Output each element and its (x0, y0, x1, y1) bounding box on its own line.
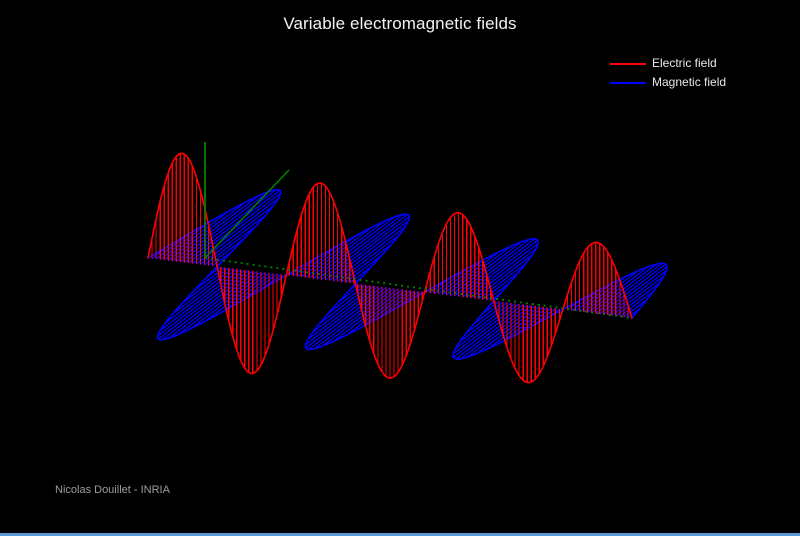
legend-label-electric-field: Electric field (652, 57, 717, 70)
figure-viewport: Variable electromagnetic fields Electric… (0, 0, 800, 541)
magnetic-field-vector (172, 196, 258, 261)
magnetic-field-vector (169, 272, 257, 339)
legend: Electric field Magnetic field (610, 55, 790, 93)
electromagnetic-wave-figure: Variable electromagnetic fields Electric… (0, 0, 800, 533)
magnetic-field-vector (165, 269, 237, 323)
electric-field-group (148, 153, 632, 382)
window-bottom-area (0, 536, 800, 541)
magnetic-field-vector (451, 242, 522, 296)
legend-item-magnetic-field[interactable]: Magnetic field (610, 74, 790, 91)
electric-field-comb-lines (148, 154, 632, 383)
author-credit: Nicolas Douillet - INRIA (55, 484, 170, 496)
magnetic-field-vector (241, 274, 277, 301)
magnetic-field-vector (346, 255, 382, 282)
magnetic-field-vector (467, 244, 538, 298)
magnetic-field-vector (455, 239, 530, 296)
magnetic-field-vector (158, 270, 245, 336)
magnetic-field-vector (576, 283, 613, 311)
magnetic-field-group (148, 190, 667, 359)
magnetic-field-vector (378, 291, 414, 318)
magnetic-field-vector (477, 307, 539, 354)
legend-swatch-magnetic-icon (610, 82, 646, 84)
legend-label-magnetic-field: Magnetic field (652, 76, 726, 89)
magnetic-field-vector (604, 267, 667, 315)
magnetic-field-vector (463, 240, 538, 297)
magnetic-field-vector (323, 289, 398, 346)
magnetic-field-vector (483, 273, 519, 300)
magnetic-field-vector (608, 271, 667, 315)
depth-axis-line-overlay (205, 170, 289, 258)
legend-swatch-electric-icon (610, 63, 646, 65)
legend-item-electric-field[interactable]: Electric field (610, 55, 790, 72)
